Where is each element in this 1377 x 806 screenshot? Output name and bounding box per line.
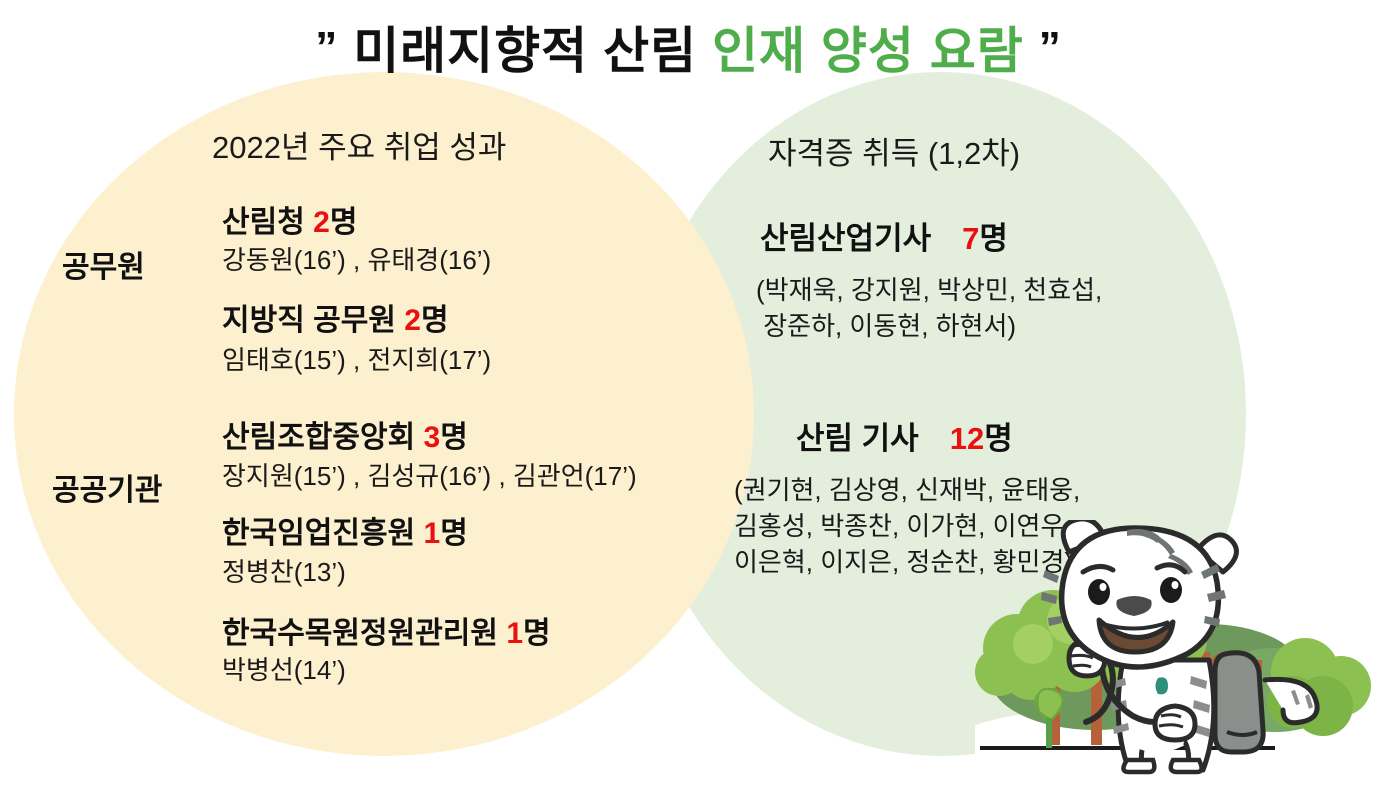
org-name-text: 산림청 bbox=[222, 206, 313, 239]
forest-tiger-mascot-illustration bbox=[975, 520, 1377, 806]
category-label-public-servant: 공무원 bbox=[62, 242, 145, 286]
org-title-forestry-cooperative: 산림조합중앙회 3명 bbox=[222, 412, 468, 456]
org-count: 2 bbox=[313, 206, 330, 239]
cert-count: 7 bbox=[962, 221, 979, 256]
title-green-part: 인재 양성 요람 bbox=[712, 23, 1024, 79]
category-label-public-institution: 공공기관 bbox=[52, 465, 162, 509]
org-count: 1 bbox=[424, 517, 441, 550]
org-members-forest-service: 강동원(16’) , 유태경(16’) bbox=[222, 240, 491, 277]
cert-name-text: 산림 기사 bbox=[796, 421, 950, 456]
org-name-text: 한국임업진흥원 bbox=[222, 517, 424, 550]
cert-title-forest-industry-engineer: 산림산업기사 7명 bbox=[760, 213, 1008, 258]
org-members-forest-promotion-institute: 정병찬(13’) bbox=[222, 552, 346, 589]
org-members-local-government: 임태호(15’) , 전지희(17’) bbox=[222, 340, 491, 377]
org-members-arboretum-garden-institute: 박병선(14’) bbox=[222, 650, 346, 687]
org-unit: 명 bbox=[523, 617, 551, 650]
org-unit: 명 bbox=[440, 517, 468, 550]
org-title-forest-promotion-institute: 한국임업진흥원 1명 bbox=[222, 508, 468, 552]
org-unit: 명 bbox=[440, 421, 468, 454]
org-name-text: 산림조합중앙회 bbox=[222, 421, 424, 454]
title-close-quote: ” bbox=[1039, 23, 1062, 72]
org-count: 2 bbox=[404, 304, 421, 337]
infographic-canvas: ” 미래지향적 산림 인재 양성 요람 ” 2022년 주요 취업 성과 공무원… bbox=[0, 0, 1377, 806]
org-name-text: 지방직 공무원 bbox=[222, 304, 404, 337]
org-members-forestry-cooperative: 장지원(15’) , 김성규(16’) , 김관언(17’) bbox=[222, 456, 637, 493]
page-title: ” 미래지향적 산림 인재 양성 요람 ” bbox=[0, 18, 1377, 81]
cert-title-forest-engineer: 산림 기사 12명 bbox=[796, 413, 1013, 458]
cert-unit: 명 bbox=[979, 221, 1008, 256]
org-title-local-government: 지방직 공무원 2명 bbox=[222, 295, 449, 339]
cert-count: 12 bbox=[950, 421, 984, 456]
org-title-forest-service: 산림청 2명 bbox=[222, 197, 357, 241]
org-title-arboretum-garden-institute: 한국수목원정원관리원 1명 bbox=[222, 608, 551, 652]
org-name-text: 한국수목원정원관리원 bbox=[222, 617, 506, 650]
org-unit: 명 bbox=[330, 206, 358, 239]
cert-unit: 명 bbox=[984, 421, 1013, 456]
cert-name-text: 산림산업기사 bbox=[760, 221, 962, 256]
title-black-part: 미래지향적 산림 bbox=[353, 23, 697, 79]
left-section-heading: 2022년 주요 취업 성과 bbox=[212, 122, 506, 167]
org-count: 3 bbox=[424, 421, 441, 454]
title-open-quote: ” bbox=[315, 23, 338, 72]
right-section-heading: 자격증 취득 (1,2차) bbox=[768, 128, 1020, 173]
org-count: 1 bbox=[506, 617, 523, 650]
org-unit: 명 bbox=[421, 304, 449, 337]
cert-members-forest-industry-engineer: (박재욱, 강지원, 박상민, 천효섭, 장준하, 이동현, 하현서) bbox=[756, 272, 1102, 344]
